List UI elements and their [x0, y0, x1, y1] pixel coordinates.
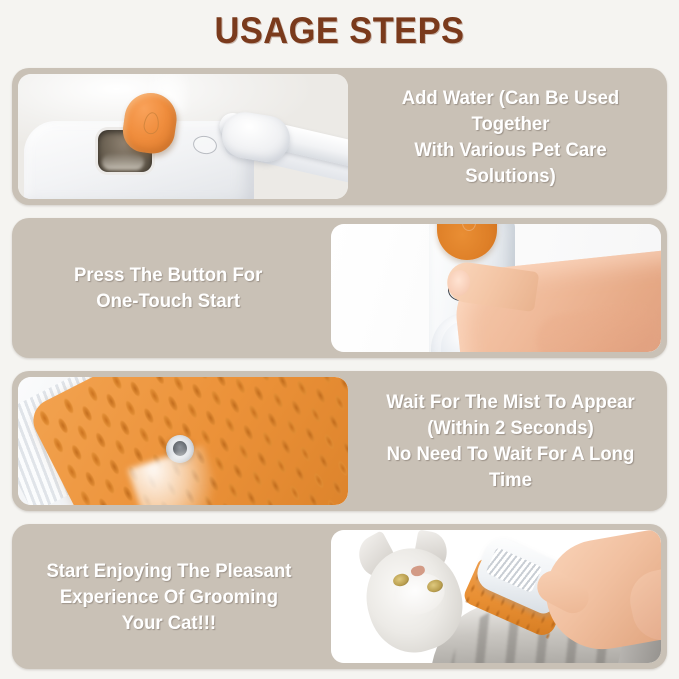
step-caption-text-4: Start Enjoying The Pleasant Experience O…: [46, 558, 291, 636]
finger-pressing-button-photo: [331, 224, 661, 352]
step-caption-3: Wait For The Mist To Appear (Within 2 Se…: [354, 371, 667, 511]
step-caption-text-2: Press The Button For One-Touch Start: [74, 262, 262, 314]
orange-silicone-brush-mist-photo: [18, 377, 348, 505]
water-drop-icon: [143, 111, 161, 135]
step-panel-3: Wait For The Mist To Appear (Within 2 Se…: [12, 371, 667, 511]
water-tank-orange-cap-photo: [18, 74, 348, 199]
page-title: USAGE STEPS: [24, 8, 655, 54]
step-caption-4: Start Enjoying The Pleasant Experience O…: [12, 524, 325, 669]
step-panel-1: Add Water (Can Be Used Together With Var…: [12, 68, 667, 205]
step-panel-2: Press The Button For One-Touch Start: [12, 218, 667, 358]
step-caption-text-1: Add Water (Can Be Used Together With Var…: [369, 85, 651, 189]
water-drop-icon: [462, 224, 476, 231]
step-caption-1: Add Water (Can Be Used Together With Var…: [354, 68, 667, 205]
usage-steps-page: USAGE STEPS: [0, 0, 679, 679]
step-caption-text-3: Wait For The Mist To Appear (Within 2 Se…: [369, 389, 651, 493]
step-panel-4: Start Enjoying The Pleasant Experience O…: [12, 524, 667, 669]
cat-being-groomed-photo: [331, 530, 661, 663]
water-surface-shine: [102, 154, 144, 170]
step-caption-2: Press The Button For One-Touch Start: [12, 218, 325, 358]
